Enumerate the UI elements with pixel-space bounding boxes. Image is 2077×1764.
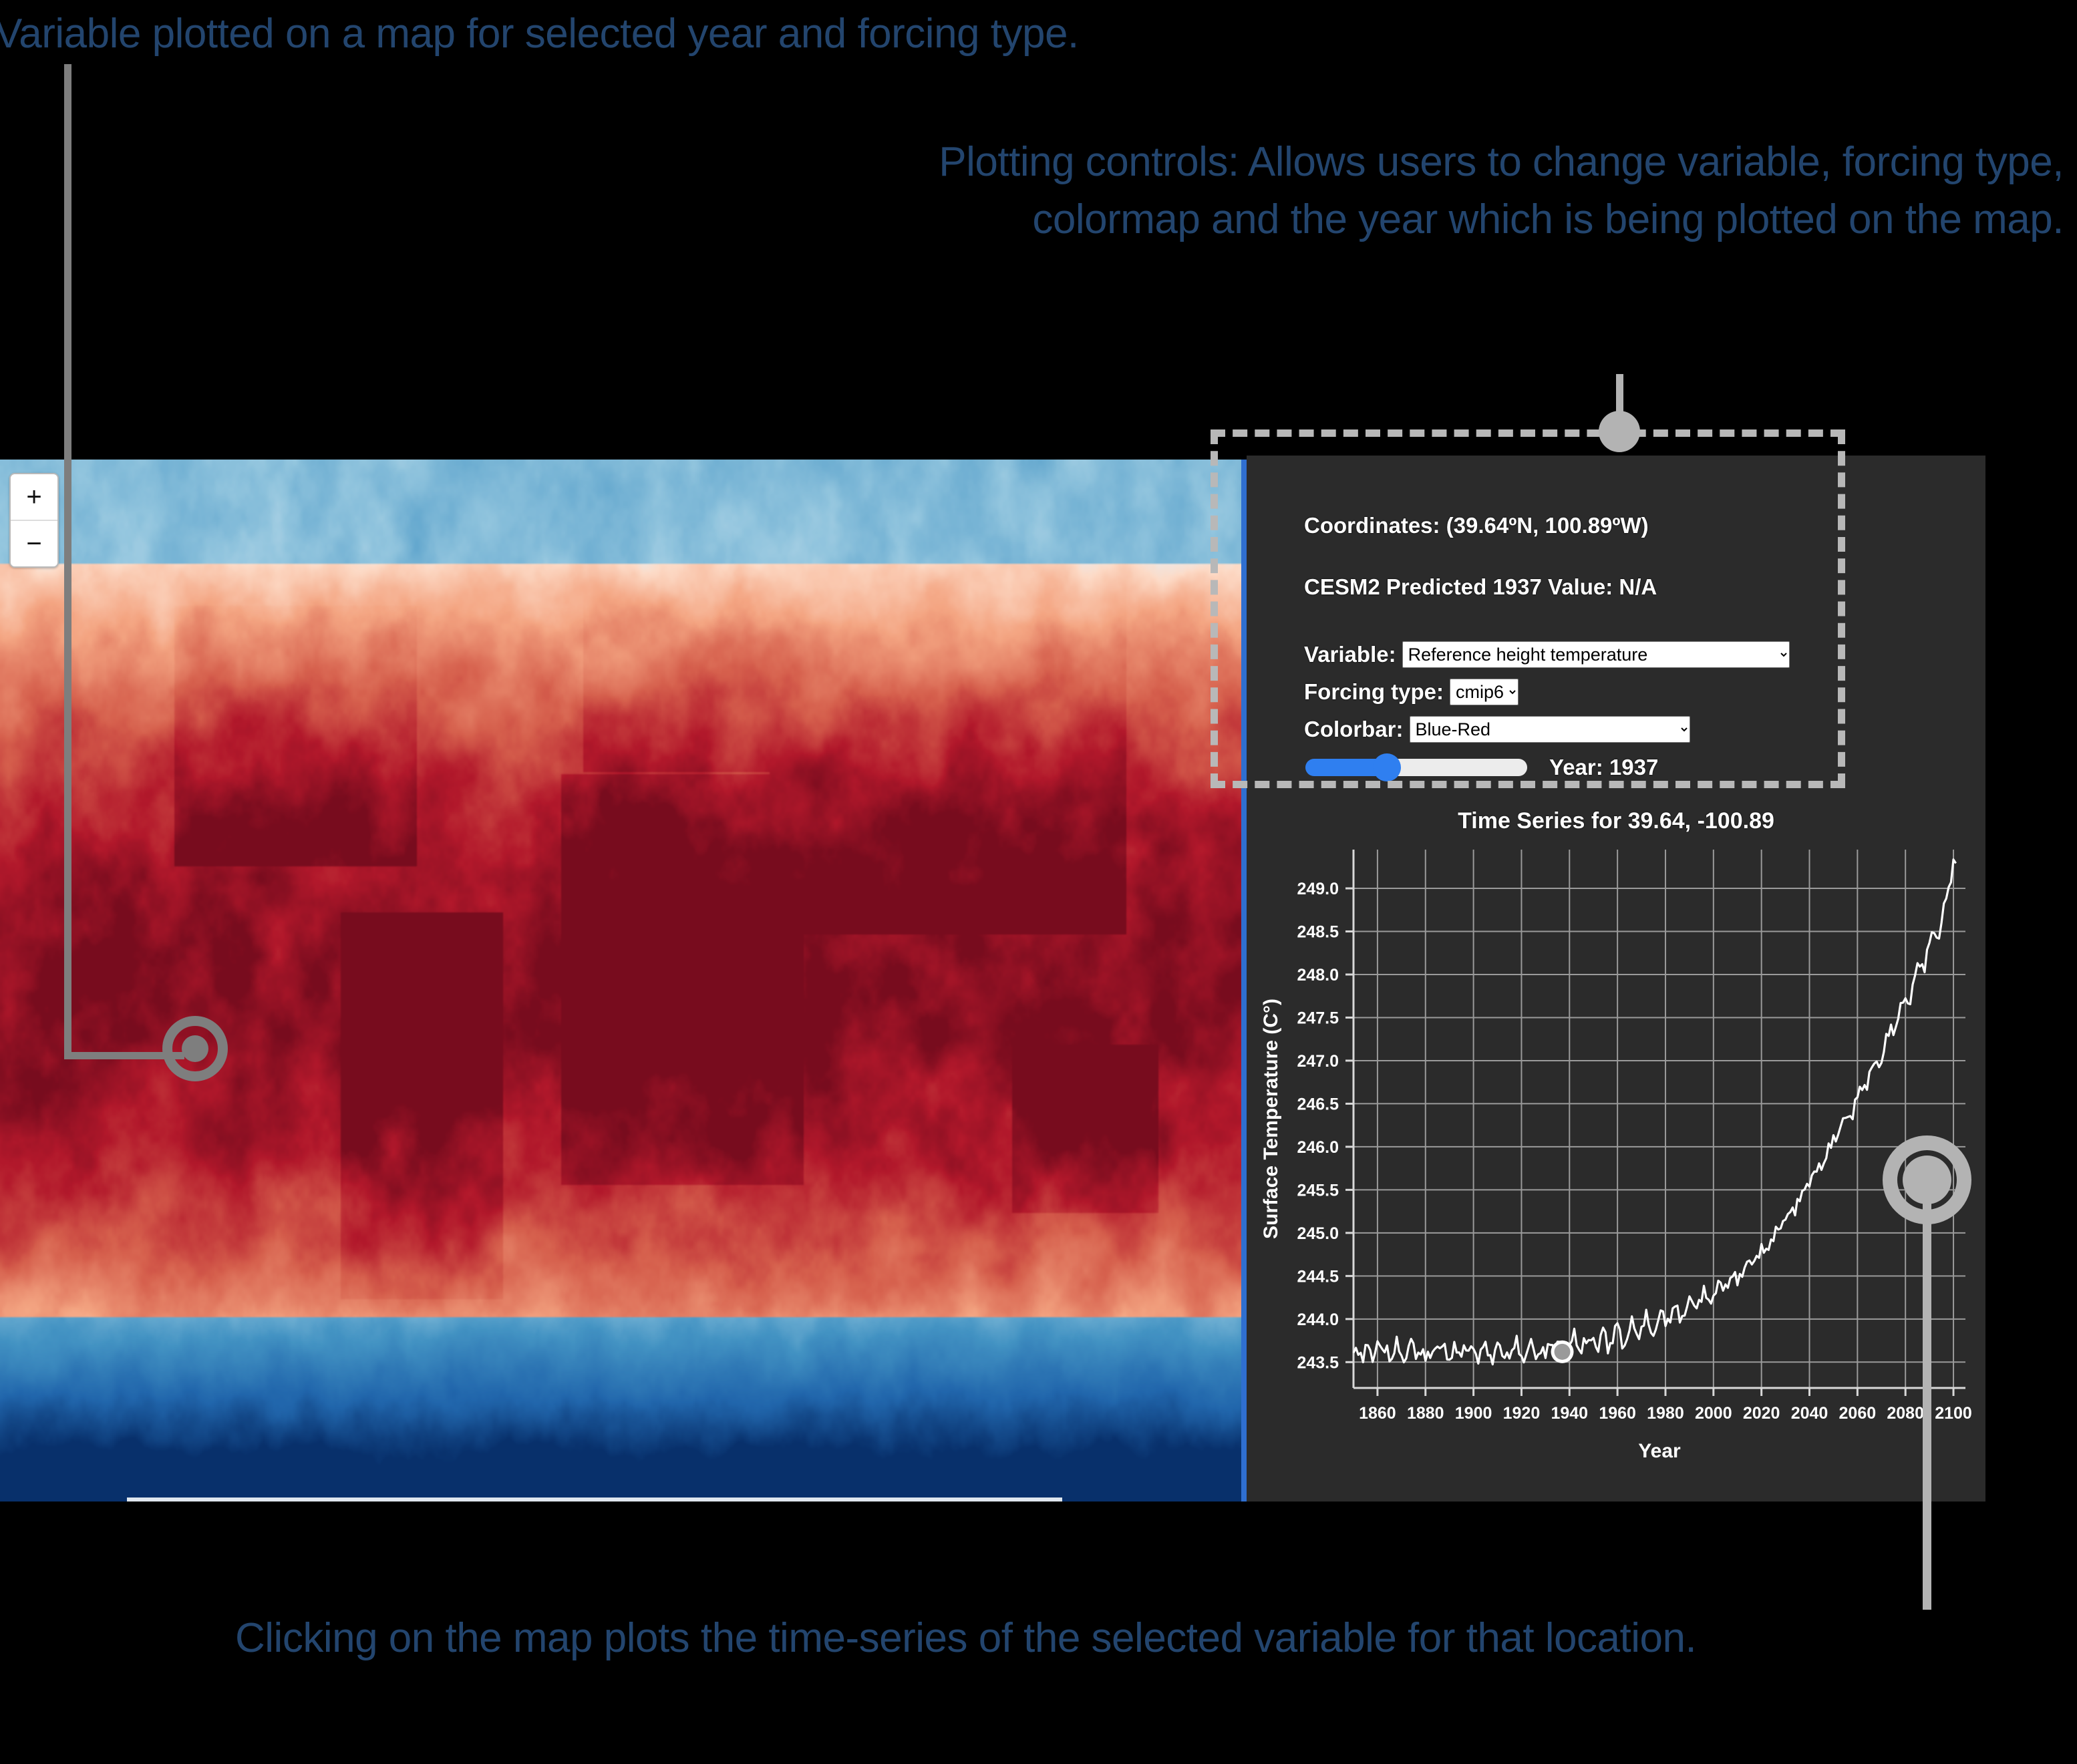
chart-svg: 243.5244.0244.5245.0245.5246.0246.5247.0…	[1247, 803, 1985, 1502]
svg-text:2040: 2040	[1791, 1404, 1828, 1423]
svg-text:Year: Year	[1638, 1440, 1681, 1462]
svg-text:244.0: 244.0	[1297, 1310, 1339, 1329]
map-raster	[0, 460, 1247, 1502]
svg-text:244.5: 244.5	[1297, 1267, 1339, 1286]
svg-text:1960: 1960	[1599, 1404, 1636, 1423]
svg-text:1920: 1920	[1503, 1404, 1541, 1423]
svg-text:248.0: 248.0	[1297, 966, 1339, 985]
zoom-in-icon[interactable]: +	[11, 474, 57, 521]
map-bottom-border	[127, 1497, 1062, 1502]
svg-text:1980: 1980	[1647, 1404, 1684, 1423]
svg-text:247.0: 247.0	[1297, 1052, 1339, 1071]
svg-text:1860: 1860	[1359, 1404, 1396, 1423]
svg-text:Surface Temperature (C°): Surface Temperature (C°)	[1260, 999, 1282, 1239]
svg-text:245.0: 245.0	[1297, 1224, 1339, 1243]
annotation-map-text: Variable plotted on a map for selected y…	[0, 12, 1079, 55]
svg-text:247.5: 247.5	[1297, 1009, 1339, 1027]
annotation-leader-timeseries	[1923, 1189, 1931, 1610]
svg-text:249.0: 249.0	[1297, 880, 1339, 898]
time-series-chart: Time Series for 39.64, -100.89 243.5244.…	[1247, 803, 1985, 1502]
svg-text:2020: 2020	[1743, 1404, 1780, 1423]
map-zoom-control[interactable]: + −	[9, 473, 59, 568]
svg-text:245.5: 245.5	[1297, 1181, 1339, 1200]
svg-text:1880: 1880	[1407, 1404, 1444, 1423]
svg-text:246.5: 246.5	[1297, 1095, 1339, 1113]
svg-text:246.0: 246.0	[1297, 1138, 1339, 1157]
annotation-dashed-box-controls	[1211, 429, 1845, 788]
annotation-controls-text: Plotting controls: Allows users to chang…	[794, 134, 2064, 248]
zoom-out-icon[interactable]: −	[11, 521, 57, 566]
annotation-marker-controls-dot	[1599, 411, 1640, 452]
annotation-marker-timeseries-dot	[1903, 1156, 1951, 1204]
annotation-timeseries-text: Clicking on the map plots the time-serie…	[235, 1610, 1839, 1667]
svg-text:1900: 1900	[1455, 1404, 1492, 1423]
svg-text:248.5: 248.5	[1297, 923, 1339, 942]
svg-text:2000: 2000	[1695, 1404, 1732, 1423]
svg-text:1940: 1940	[1551, 1404, 1588, 1423]
svg-text:2100: 2100	[1935, 1404, 1972, 1423]
svg-text:243.5: 243.5	[1297, 1353, 1339, 1372]
climate-map[interactable]	[0, 460, 1247, 1502]
svg-text:2060: 2060	[1839, 1404, 1877, 1423]
annotation-leader-vertical	[64, 64, 71, 1059]
annotation-marker-map-dot	[182, 1035, 208, 1062]
svg-text:2080: 2080	[1887, 1404, 1924, 1423]
